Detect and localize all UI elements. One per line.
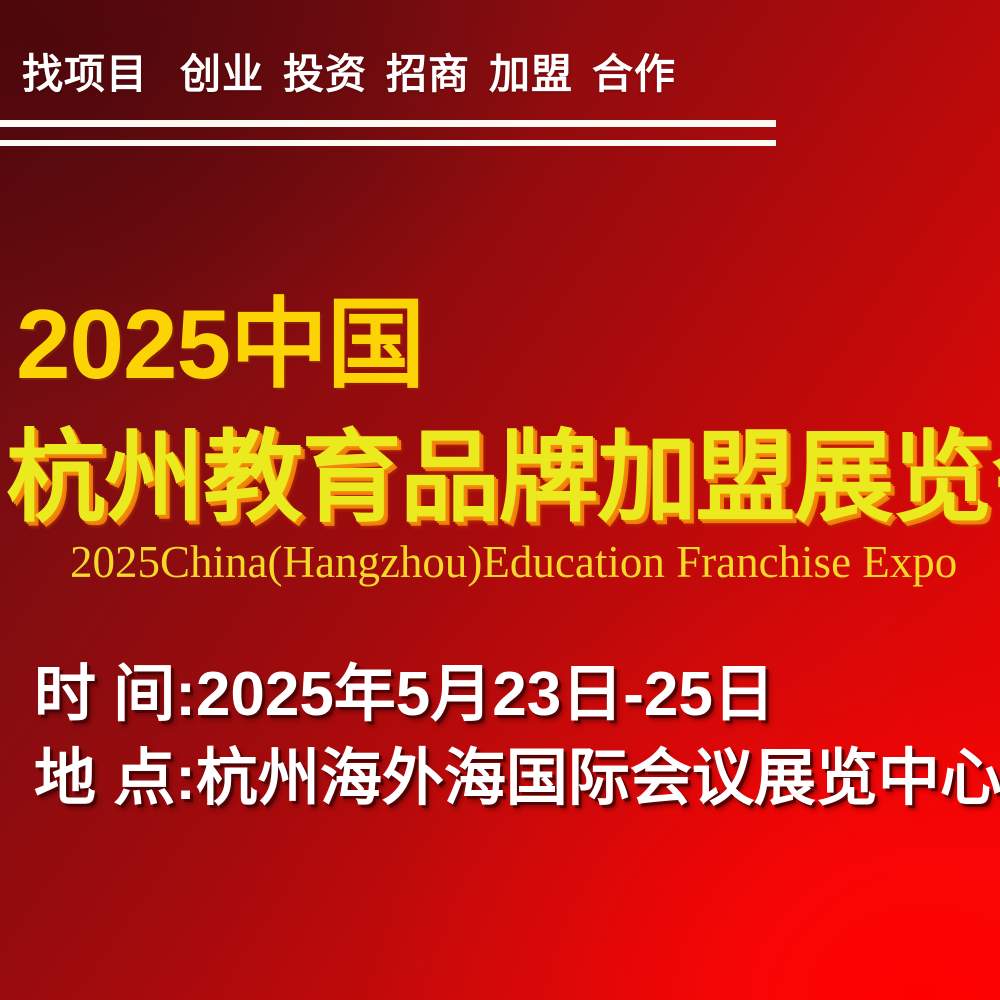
- nav-item-investment[interactable]: 投资: [283, 54, 367, 95]
- event-date-value: 2025年5月23日-25日: [196, 660, 775, 729]
- divider-line-bottom: [0, 140, 776, 146]
- divider-group: [0, 120, 776, 146]
- nav-item-recruitment[interactable]: 招商: [386, 54, 470, 95]
- page-subtitle-english: 2025China(Hangzhou)Education Franchise E…: [70, 540, 957, 585]
- page-title-year: 2025中国: [16, 295, 424, 393]
- event-date-line: 时 间:2025年5月23日-25日: [34, 664, 775, 726]
- nav-item-find-project[interactable]: 找项目: [22, 54, 148, 95]
- nav-item-franchise[interactable]: 加盟: [489, 54, 573, 95]
- page-title-headline: 杭州教育品牌加盟展览会: [6, 428, 996, 528]
- event-venue-line: 地 点:杭州海外海国际会议展览中心: [34, 748, 1000, 810]
- top-nav: 找项目 创业 投资 招商 加盟 合作: [22, 54, 972, 95]
- nav-item-cooperation[interactable]: 合作: [592, 54, 676, 95]
- event-venue-label: 地 点:: [34, 744, 196, 813]
- expo-poster: 找项目 创业 投资 招商 加盟 合作 2025中国 杭州教育品牌加盟展览会 20…: [0, 0, 1000, 1000]
- divider-line-top: [0, 120, 776, 127]
- event-date-label: 时 间:: [34, 660, 196, 729]
- event-venue-value: 杭州海外海国际会议展览中心: [196, 744, 1000, 813]
- nav-item-startup[interactable]: 创业: [180, 54, 264, 95]
